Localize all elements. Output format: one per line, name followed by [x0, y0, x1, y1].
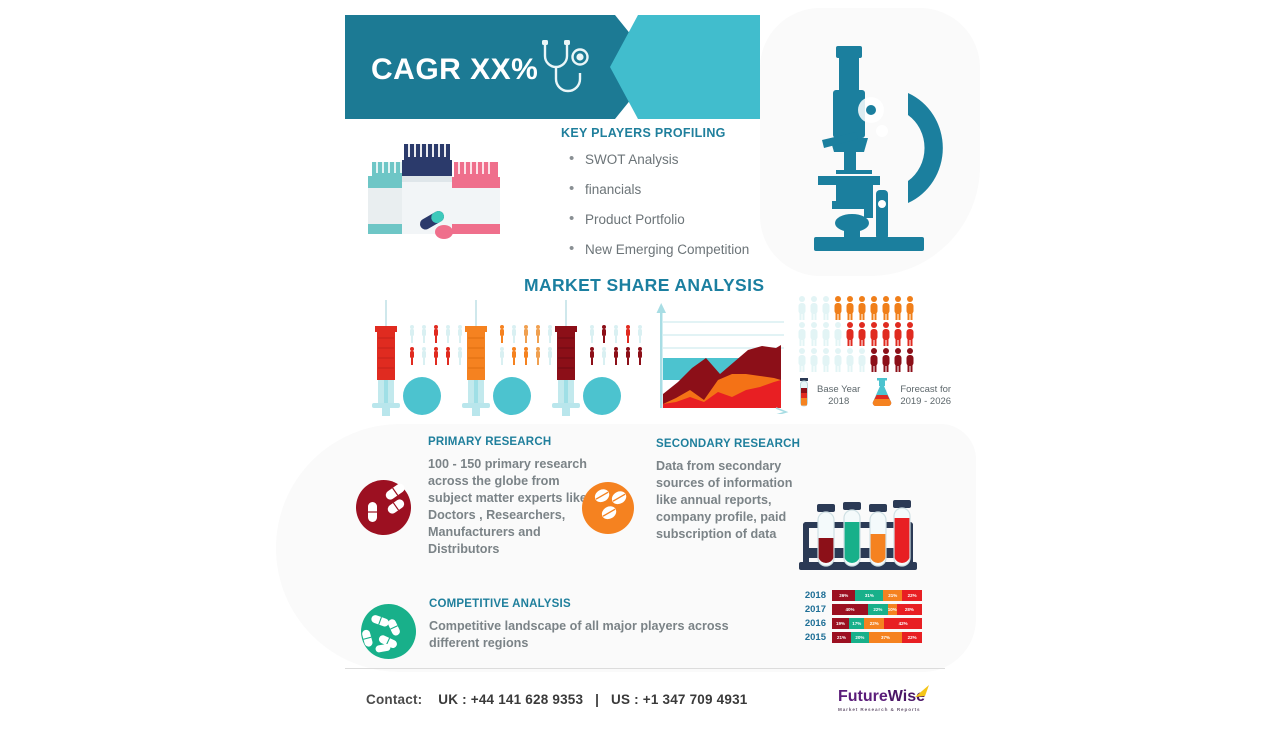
cagr-label: CAGR XX% — [371, 53, 538, 87]
list-item: financials — [585, 182, 821, 197]
pill-bottles-icon — [360, 140, 500, 253]
bar-segment: 19% — [832, 618, 849, 629]
market-share-area-chart — [652, 302, 792, 419]
bar-track: 19% 17% 22% 42% — [832, 618, 922, 629]
banner-light-block — [610, 15, 760, 119]
syringe-group — [362, 300, 647, 423]
microscope-icon — [808, 18, 968, 273]
capsule-pills-icon — [356, 480, 411, 535]
competitive-analysis-body: Competitive landscape of all major playe… — [429, 618, 729, 652]
bar-segment: 26% — [832, 590, 855, 601]
bar-year-label: 2017 — [800, 604, 826, 615]
table-row: 2015 21% 20% 37% 22% — [800, 632, 922, 643]
table-row: 2018 26% 31% 21% 22% — [800, 590, 922, 601]
bar-segment: 21% — [832, 632, 851, 643]
uk-phone: +44 141 628 9353 — [471, 692, 583, 707]
secondary-research-body: Data from secondary sources of informati… — [656, 458, 806, 543]
tablets-icon — [582, 482, 634, 534]
stethoscope-icon — [535, 37, 597, 104]
table-row: 2016 19% 17% 22% 42% — [800, 618, 922, 629]
list-item: Product Portfolio — [585, 212, 821, 227]
contact-label: Contact: — [366, 692, 422, 707]
futurewise-logo[interactable]: FutureWise Market Research & Reports — [838, 688, 925, 712]
secondary-research-heading: SECONDARY RESEARCH — [656, 438, 806, 450]
primary-research-block: PRIMARY RESEARCH 100 - 150 primary resea… — [428, 436, 588, 558]
list-item: SWOT Analysis — [585, 152, 821, 167]
bar-year-label: 2016 — [800, 618, 826, 629]
us-label: US : — [611, 692, 639, 707]
yearly-stacked-bar-chart: 2018 26% 31% 21% 22% 2017 40% 22% 10% 28… — [800, 590, 922, 646]
market-share-title: MARKET SHARE ANALYSIS — [524, 275, 764, 296]
bar-track: 26% 31% 21% 22% — [832, 590, 922, 601]
bar-segment: 17% — [849, 618, 864, 629]
people-pictogram — [797, 296, 917, 379]
key-players-heading: KEY PLAYERS PROFILING — [561, 126, 821, 140]
key-players-list: SWOT Analysis financials Product Portfol… — [561, 152, 821, 257]
competitive-analysis-heading: COMPETITIVE ANALYSIS — [429, 598, 729, 610]
chart-legend: Base Year 2018 Forecast for 2019 - 2026 — [797, 378, 951, 413]
bar-segment: 28% — [897, 604, 922, 615]
bar-year-label: 2018 — [800, 590, 826, 601]
capsules-cluster-icon — [361, 604, 416, 659]
bar-segment: 40% — [832, 604, 868, 615]
bar-segment: 22% — [902, 590, 922, 601]
swoosh-icon — [912, 684, 930, 705]
bar-segment: 37% — [869, 632, 902, 643]
flask-icon — [870, 378, 894, 413]
primary-research-body: 100 - 150 primary research across the gl… — [428, 456, 588, 558]
footer-divider — [345, 668, 945, 669]
secondary-research-block: SECONDARY RESEARCH Data from secondary s… — [656, 438, 806, 543]
brand-future: Future — [838, 688, 888, 705]
bar-segment: 10% — [888, 604, 897, 615]
cagr-banner: CAGR XX% — [345, 15, 760, 119]
bar-segment: 22% — [902, 632, 922, 643]
bar-segment: 21% — [883, 590, 902, 601]
bar-year-label: 2015 — [800, 632, 826, 643]
contact-line: Contact: UK : +44 141 628 9353 | US : +1… — [366, 692, 748, 707]
infographic-page: CAGR XX% — [0, 0, 1280, 731]
us-phone: +1 347 709 4931 — [643, 692, 748, 707]
bar-segment: 31% — [855, 590, 883, 601]
bar-segment: 20% — [851, 632, 869, 643]
test-tube-rack-icon — [795, 492, 925, 582]
bar-segment: 42% — [884, 618, 922, 629]
list-item: New Emerging Competition — [585, 242, 821, 257]
bar-track: 40% 22% 10% 28% — [832, 604, 922, 615]
legend-forecast: Forecast for 2019 - 2026 — [900, 384, 951, 408]
bar-segment: 22% — [868, 604, 888, 615]
uk-label: UK : — [438, 692, 467, 707]
competitive-analysis-block: COMPETITIVE ANALYSIS Competitive landsca… — [429, 598, 729, 652]
brand-tagline: Market Research & Reports — [838, 707, 925, 712]
bar-segment: 22% — [864, 618, 884, 629]
test-tube-icon — [797, 378, 811, 413]
separator: | — [595, 692, 599, 707]
legend-base-year: Base Year 2018 — [817, 384, 860, 408]
key-players-block: KEY PLAYERS PROFILING SWOT Analysis fina… — [561, 126, 821, 272]
primary-research-heading: PRIMARY RESEARCH — [428, 436, 588, 448]
table-row: 2017 40% 22% 10% 28% — [800, 604, 922, 615]
bar-track: 21% 20% 37% 22% — [832, 632, 922, 643]
